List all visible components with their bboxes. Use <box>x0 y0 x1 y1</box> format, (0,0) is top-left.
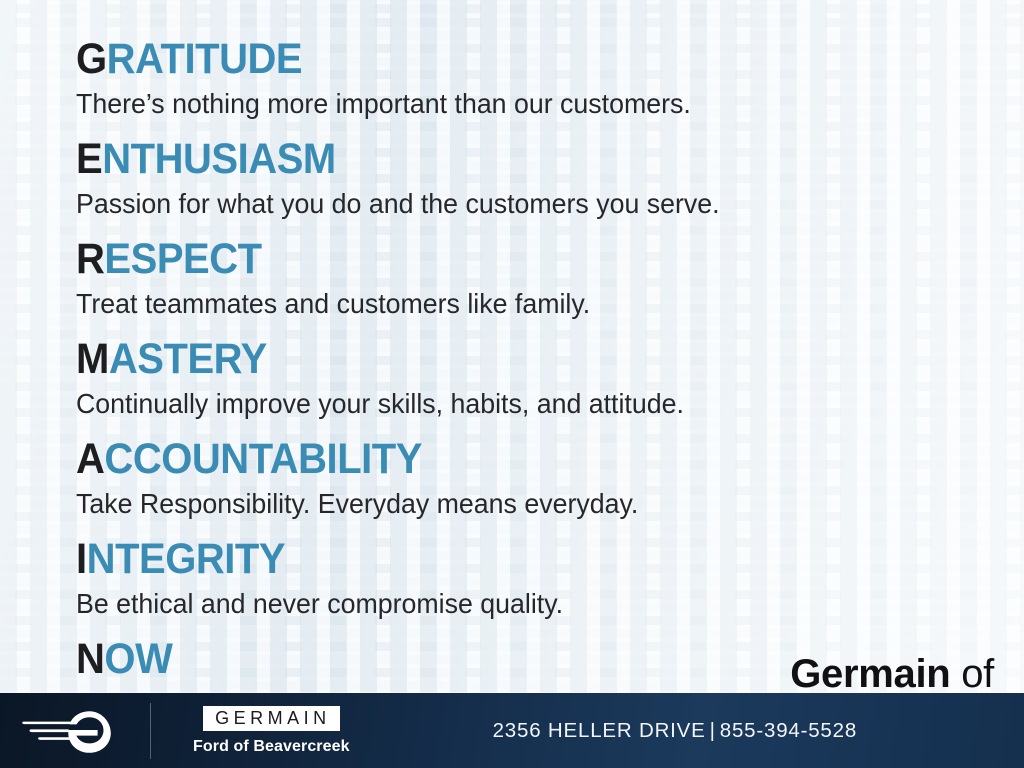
poster-canvas: GRATITUDE There’s nothing more important… <box>0 0 1024 768</box>
value-remainder: NTHUSIASM <box>102 135 336 183</box>
value-block-mastery: MASTERY Continually improve your skills,… <box>76 334 1004 424</box>
value-title-enthusiasm: ENTHUSIASM <box>76 134 939 184</box>
value-remainder: CCOUNTABILITY <box>104 435 422 483</box>
footer-contact-info: 2356 HELLER DRIVE|855-394-5528 <box>350 719 1024 743</box>
value-remainder: ESPECT <box>104 235 261 283</box>
value-title-respect: RESPECT <box>76 234 939 284</box>
footer-separator: | <box>706 719 720 742</box>
value-description-respect: Treat teammates and customers like famil… <box>76 284 962 324</box>
overlay-headline-germain-of: Germain of <box>790 652 994 696</box>
value-block-respect: RESPECT Treat teammates and customers li… <box>76 234 1004 324</box>
value-description-enthusiasm: Passion for what you do and the customer… <box>76 184 962 224</box>
value-description-integrity: Be ethical and never compromise quality. <box>76 584 962 624</box>
value-description-accountability: Take Responsibility. Everyday means ever… <box>76 484 962 524</box>
value-remainder: NTEGRITY <box>87 535 285 583</box>
value-initial: I <box>76 535 87 583</box>
value-description-gratitude: There’s nothing more important than our … <box>76 84 962 124</box>
dealer-name-label: Ford of Beavercreek <box>193 738 350 756</box>
footer-address: 2356 HELLER DRIVE <box>493 719 706 742</box>
value-initial: M <box>76 335 109 383</box>
value-title-accountability: ACCOUNTABILITY <box>76 434 939 484</box>
value-initial: G <box>76 35 107 83</box>
value-block-accountability: ACCOUNTABILITY Take Responsibility. Ever… <box>76 434 1004 524</box>
core-values-list: GRATITUDE There’s nothing more important… <box>76 34 1004 694</box>
value-remainder: OW <box>104 635 172 683</box>
value-block-gratitude: GRATITUDE There’s nothing more important… <box>76 34 1004 124</box>
value-block-integrity: INTEGRITY Be ethical and never compromis… <box>76 534 1004 624</box>
value-title-integrity: INTEGRITY <box>76 534 939 584</box>
footer-bar: GERMAIN Ford of Beavercreek 2356 HELLER … <box>0 693 1024 768</box>
value-title-gratitude: GRATITUDE <box>76 34 939 84</box>
overlay-headline-strong: Germain <box>790 652 950 696</box>
value-initial: N <box>76 635 104 683</box>
value-remainder: RATITUDE <box>107 35 302 83</box>
footer-brand-block: GERMAIN Ford of Beavercreek <box>151 706 350 756</box>
overlay-headline-light: of <box>961 652 994 696</box>
value-initial: R <box>76 235 104 283</box>
value-block-enthusiasm: ENTHUSIASM Passion for what you do and t… <box>76 134 1004 224</box>
value-description-mastery: Continually improve your skills, habits,… <box>76 384 962 424</box>
value-remainder: ASTERY <box>109 335 267 383</box>
value-initial: E <box>76 135 102 183</box>
germain-wing-g-icon <box>0 707 150 755</box>
value-initial: A <box>76 435 104 483</box>
value-title-mastery: MASTERY <box>76 334 939 384</box>
germain-wordmark-box: GERMAIN <box>203 706 340 731</box>
footer-phone: 855-394-5528 <box>720 719 857 742</box>
